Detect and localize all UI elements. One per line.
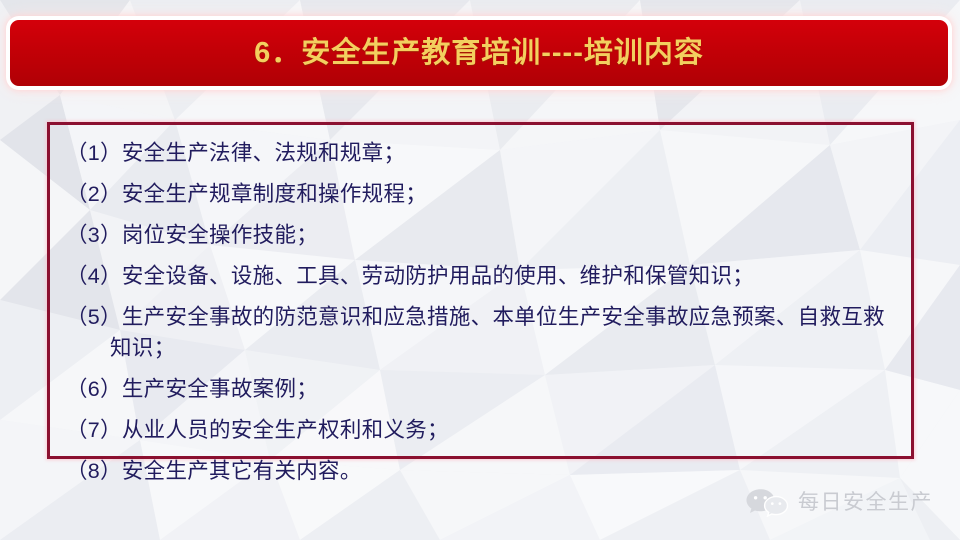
list-item: （8）安全生产其它有关内容。 xyxy=(66,456,895,487)
list-item: （5）生产安全事故的防范意识和应急措施、本单位生产安全事故应急预案、自救互救知识… xyxy=(66,302,895,363)
wechat-badge: 每日安全生产 xyxy=(745,487,933,517)
list-item: （1）安全生产法律、法规和规章； xyxy=(66,138,895,169)
list-item: （6）生产安全事故案例； xyxy=(66,374,895,405)
slide-canvas: 6．安全生产教育培训----培训内容 （1）安全生产法律、法规和规章； （2）安… xyxy=(0,0,960,540)
content-box: （1）安全生产法律、法规和规章； （2）安全生产规章制度和操作规程； （3）岗位… xyxy=(47,122,914,459)
training-content-list: （1）安全生产法律、法规和规章； （2）安全生产规章制度和操作规程； （3）岗位… xyxy=(66,138,895,486)
wechat-label: 每日安全生产 xyxy=(798,492,933,513)
page-title: 6．安全生产教育培训----培训内容 xyxy=(254,39,704,68)
list-item: （3）岗位安全操作技能； xyxy=(66,220,895,251)
list-item: （4）安全设备、设施、工具、劳动防护用品的使用、维护和保管知识； xyxy=(66,261,895,292)
wechat-icon xyxy=(745,487,789,517)
list-item: （7）从业人员的安全生产权利和义务； xyxy=(66,415,895,446)
title-banner: 6．安全生产教育培训----培训内容 xyxy=(10,20,948,86)
list-item: （2）安全生产规章制度和操作规程； xyxy=(66,179,895,210)
